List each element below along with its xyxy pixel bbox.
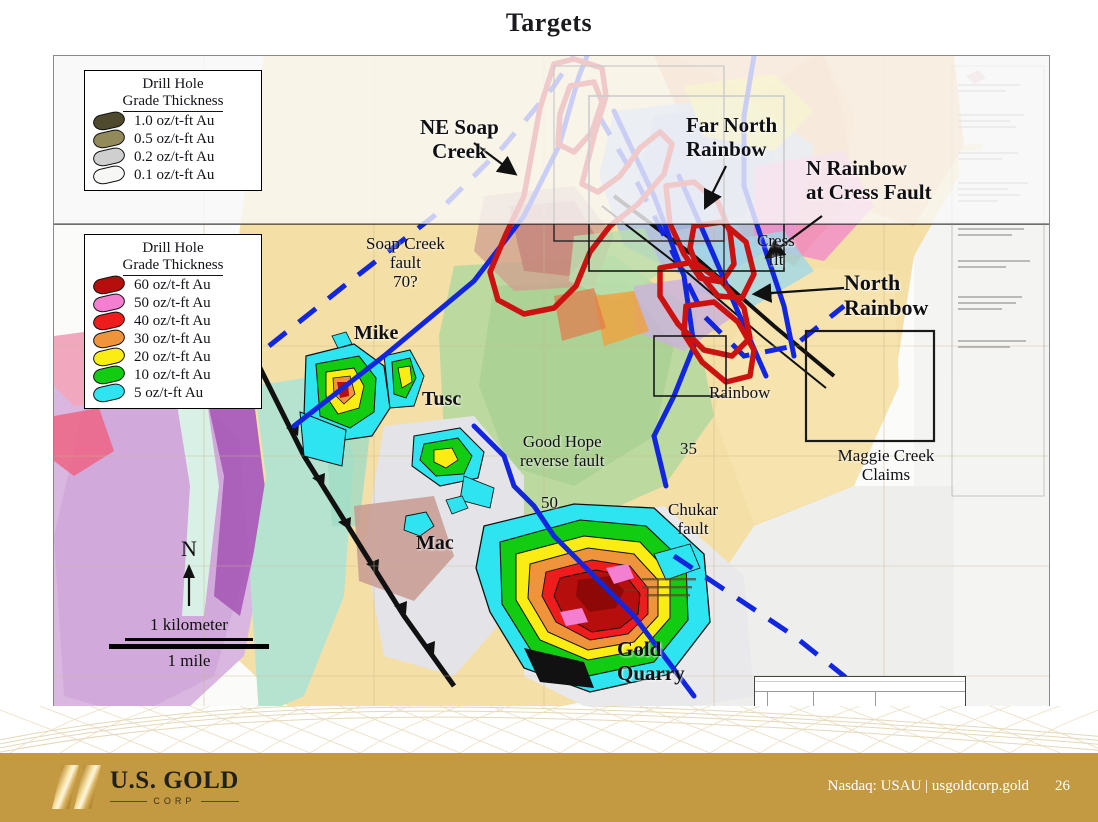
legend-item: 1.0 oz/t-ft Au	[93, 113, 253, 130]
label-north-rainbow: North Rainbow	[844, 271, 928, 320]
grade-swatch	[92, 110, 127, 133]
label-maggie-creek-claims: Maggie Creek Claims	[826, 446, 946, 484]
scale-mile-label: 1 mile	[99, 651, 279, 671]
label-soap-creek-fault: Soap Creek fault 70?	[366, 234, 445, 291]
grade-swatch	[92, 292, 127, 315]
logo-mark-icon	[55, 765, 101, 809]
legend-drill-hole-grade-color: Drill Hole Grade Thickness 60 oz/t-ft Au…	[84, 234, 262, 409]
grade-swatch	[92, 382, 127, 405]
grade-swatch	[92, 164, 127, 187]
north-label: N	[99, 536, 279, 562]
decorative-woven-band	[0, 706, 1098, 753]
legend-item: 30 oz/t-ft Au	[93, 331, 253, 348]
logo-company-name: U.S. GOLD	[110, 768, 239, 793]
north-arrow-icon	[99, 562, 279, 608]
label-chukar-fault: Chukar fault	[668, 500, 718, 538]
legend-item: 0.5 oz/t-ft Au	[93, 131, 253, 148]
scale-bar-kilometer	[125, 638, 253, 641]
scale-kilometer-label: 1 kilometer	[99, 615, 279, 635]
label-dip-35: 35	[680, 439, 697, 458]
page-title: Targets	[0, 8, 1098, 38]
geologic-map: Drill Hole Grade Thickness 1.0 oz/t-ft A…	[53, 55, 1050, 722]
legend-title: Drill Hole Grade Thickness	[93, 76, 253, 112]
label-dip-50: 50	[541, 493, 558, 512]
label-good-hope-reverse-fault: Good Hope reverse fault	[520, 432, 604, 470]
legend-item: 40 oz/t-ft Au	[93, 313, 253, 330]
slide-footer: U.S. GOLD CORP Nasdaq: USAU | usgoldcorp…	[0, 753, 1098, 822]
grade-swatch	[92, 146, 127, 169]
scale-bar-block: N 1 kilometer 1 mile	[99, 536, 279, 671]
legend-item: 0.1 oz/t-ft Au	[93, 167, 253, 184]
grade-swatch	[92, 364, 127, 387]
ticker-info: Nasdaq: USAU | usgoldcorp.gold	[828, 778, 1029, 795]
legend-title: Drill Hole Grade Thickness	[93, 240, 253, 276]
label-cress-flt: Cress flt	[757, 231, 795, 269]
legend-drill-hole-grade-light: Drill Hole Grade Thickness 1.0 oz/t-ft A…	[84, 70, 262, 191]
legend-item: 20 oz/t-ft Au	[93, 349, 253, 366]
grade-swatch	[92, 274, 127, 297]
logo-company-suffix: CORP	[110, 796, 239, 806]
label-ne-soap-creek: NE Soap Creek	[420, 116, 499, 163]
grade-swatch	[92, 328, 127, 351]
grade-swatch	[92, 128, 127, 151]
grade-swatch	[92, 310, 127, 333]
label-tusc: Tusc	[422, 388, 461, 410]
scale-bar-mile	[109, 644, 269, 649]
grade-swatch	[92, 346, 127, 369]
label-gold-quarry: Gold Quarry	[617, 638, 685, 685]
legend-item: 10 oz/t-ft Au	[93, 367, 253, 384]
page-number: 26	[1055, 778, 1070, 795]
label-rainbow: Rainbow	[709, 383, 770, 402]
label-n-rainbow-cress-fault: N Rainbow at Cress Fault	[806, 157, 932, 204]
label-far-north-rainbow: Far North Rainbow	[686, 114, 777, 161]
legend-item: 60 oz/t-ft Au	[93, 277, 253, 294]
legend-item: 0.2 oz/t-ft Au	[93, 149, 253, 166]
legend-item: 5 oz/t-ft Au	[93, 385, 253, 402]
company-logo: U.S. GOLD CORP	[55, 765, 239, 809]
label-mac: Mac	[416, 532, 454, 554]
label-mike: Mike	[354, 322, 398, 344]
legend-item: 50 oz/t-ft Au	[93, 295, 253, 312]
